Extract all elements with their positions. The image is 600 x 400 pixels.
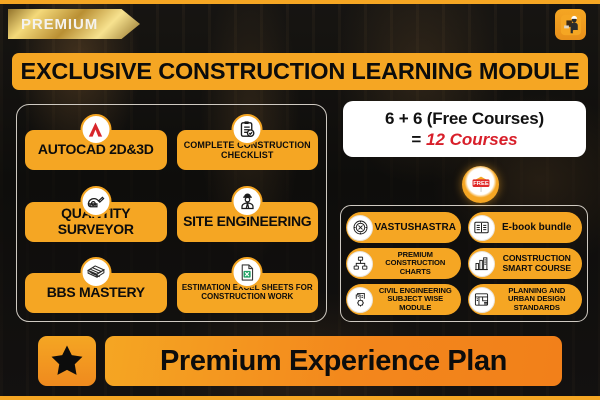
top-accent-strip (0, 0, 600, 4)
free-courses-panel: VASTUSHASTRA E-book bundle (340, 205, 588, 322)
course-card-autocad[interactable]: AUTOCAD 2D&3D (25, 114, 167, 170)
premium-courses-panel: AUTOCAD 2D&3D COMPLETE CONSTRUCTION C (16, 104, 327, 322)
promo-poster: PREMIUM EXCLUSIVE CONSTRUCTION LEARNING … (0, 0, 600, 400)
gear-building-icon (347, 287, 373, 313)
course-count-highlight: 12 Courses (426, 130, 518, 149)
course-count-line1: 6 + 6 (Free Courses) (385, 109, 544, 129)
free-course-label: PLANNING AND URBAN DESIGN STANDARDS (496, 287, 579, 312)
clipboard-checklist-icon (232, 114, 263, 145)
measuring-tape-icon (80, 186, 111, 217)
free-course-civil-engineering[interactable]: CIVIL ENGINEERING SUBJECT WISE MODULE (346, 284, 461, 315)
free-course-label: E-book bundle (496, 222, 579, 233)
course-card-quantity-surveyor[interactable]: QUANTITY SURVEYOR (25, 186, 167, 242)
free-course-planning-urban[interactable]: PLANNING AND URBAN DESIGN STANDARDS (468, 284, 583, 315)
premium-badge-label: PREMIUM (21, 16, 98, 33)
free-course-row: CIVIL ENGINEERING SUBJECT WISE MODULE PL… (346, 284, 582, 315)
free-course-ebook-bundle[interactable]: E-book bundle (468, 212, 583, 243)
page-title: EXCLUSIVE CONSTRUCTION LEARNING MODULE (12, 53, 588, 90)
course-row: BBS MASTERY ESTIMATION EXCEL SHEETS FOR … (25, 257, 318, 313)
free-course-smart-course[interactable]: CONSTRUCTION SMART COURSE (468, 248, 583, 279)
open-book-icon (469, 215, 495, 241)
bottom-banner-title: Premium Experience Plan (105, 336, 562, 386)
blueprint-icon (469, 287, 495, 313)
course-row: QUANTITY SURVEYOR SITE ENGINEERING (25, 186, 318, 242)
course-card-bbs-mastery[interactable]: BBS MASTERY (25, 257, 167, 313)
course-count-line2: = 12 Courses (411, 130, 517, 150)
free-course-row: VASTUSHASTRA E-book bundle (346, 212, 582, 243)
star-icon (38, 336, 96, 386)
premium-badge: PREMIUM (8, 9, 140, 39)
course-card-estimation-excel[interactable]: ESTIMATION EXCEL SHEETS FOR CONSTRUCTION… (177, 257, 319, 313)
excel-sheet-icon (232, 257, 263, 288)
free-course-vastushastra[interactable]: VASTUSHASTRA (346, 212, 461, 243)
free-course-label: CONSTRUCTION SMART COURSE (496, 254, 579, 273)
engineer-person-icon (232, 186, 263, 217)
svg-text:FREE: FREE (473, 181, 489, 187)
course-card-site-engineering[interactable]: SITE ENGINEERING (177, 186, 319, 242)
free-course-row: PREMIUM CONSTRUCTION CHARTS CONSTRUCTION… (346, 248, 582, 279)
free-course-label: VASTUSHASTRA (374, 222, 457, 233)
free-course-label: PREMIUM CONSTRUCTION CHARTS (374, 251, 457, 276)
bottom-accent-strip (0, 396, 600, 400)
free-sign-icon: FREE (462, 166, 499, 203)
bottom-banner: Premium Experience Plan (38, 336, 562, 386)
free-course-label: CIVIL ENGINEERING SUBJECT WISE MODULE (374, 287, 457, 312)
course-row: AUTOCAD 2D&3D COMPLETE CONSTRUCTION C (25, 114, 318, 170)
course-count-prefix: = (411, 130, 426, 149)
rebar-mesh-icon (80, 257, 111, 288)
construction-worker-app-icon[interactable] (555, 9, 586, 40)
free-course-premium-charts[interactable]: PREMIUM CONSTRUCTION CHARTS (346, 248, 461, 279)
org-chart-icon (347, 251, 373, 277)
compass-icon (347, 215, 373, 241)
course-count-box: 6 + 6 (Free Courses) = 12 Courses (343, 101, 586, 157)
course-card-checklist[interactable]: COMPLETE CONSTRUCTION CHECKLIST (177, 114, 319, 170)
building-chart-icon (469, 251, 495, 277)
autocad-a-icon (80, 114, 111, 145)
